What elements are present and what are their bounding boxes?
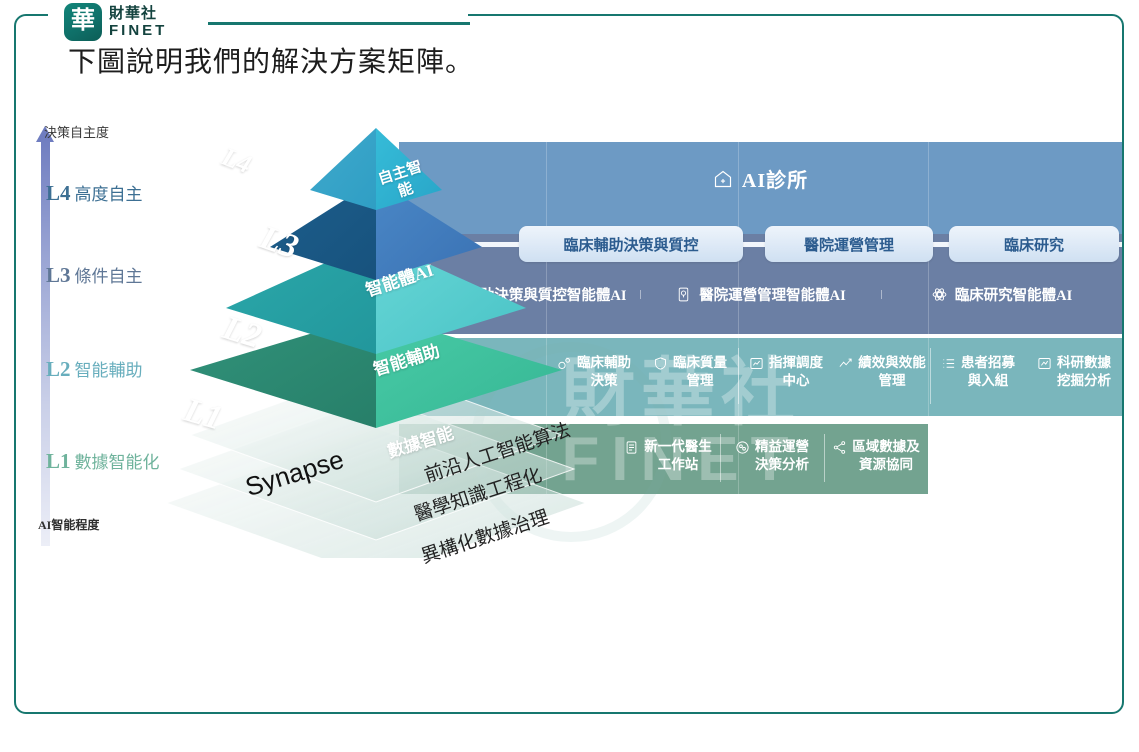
- atom-icon: [931, 286, 948, 303]
- brand-text: 財華社 FINET: [109, 6, 167, 38]
- axis-level-l4: L4高度自主: [46, 180, 143, 206]
- axis-level-l2: L2智能輔助: [46, 356, 143, 382]
- agent-label: 臨床研究智能體AI: [955, 284, 1073, 305]
- level-name: 高度自主: [75, 185, 143, 204]
- monitor-idea-icon: [675, 286, 692, 303]
- brand-name-cn: 財華社: [109, 6, 167, 21]
- ai-clinic-title: AI診所: [742, 164, 808, 193]
- level-code: L4: [46, 181, 71, 205]
- level-name: 條件自主: [75, 267, 143, 286]
- agent-label: 醫院運營管理智能體AI: [699, 284, 846, 305]
- l1-item-regional-data[interactable]: 區域數據及資源協同: [824, 428, 928, 490]
- cap-line2: 與入組: [968, 373, 1009, 388]
- axis-level-l1: L1數據智能化: [46, 448, 160, 474]
- l2-group-research: 患者招募與入組 科研數據挖掘分析: [930, 342, 1122, 412]
- hospital-home-icon: [713, 169, 733, 189]
- l2-item-clinical-quality[interactable]: 臨床質量管理: [642, 342, 738, 412]
- diagram-canvas: 財華社 FINET 決策自主度 AI智能程度 L4高度自主 L3條件自主 L2智…: [16, 110, 1122, 678]
- level-code: L1: [46, 449, 71, 473]
- axis-top-label: 決策自主度: [44, 122, 109, 141]
- document-icon: [624, 440, 639, 455]
- cap-line2: 決策: [591, 373, 618, 388]
- l2-item-patient-recruit[interactable]: 患者招募與入組: [930, 342, 1026, 412]
- cap-line2: 中心: [783, 373, 810, 388]
- l1-capability-row: 新一代醫生工作站 精益運營決策分析 區域數據及資源協同: [616, 428, 928, 490]
- cap-line1: 科研數據: [1057, 355, 1111, 370]
- axis-bottom-label: AI智能程度: [38, 516, 99, 533]
- brand-rule: [208, 22, 470, 25]
- l2-item-research-data[interactable]: 科研數據挖掘分析: [1026, 342, 1122, 412]
- cap-line2: 資源協同: [859, 457, 913, 472]
- pyramid-face-l4-left: [310, 128, 376, 210]
- gear-circle-icon: [735, 440, 750, 455]
- share-icon: [832, 440, 847, 455]
- l2-capability-row: 臨床輔助決策 臨床質量管理: [546, 342, 1122, 412]
- cap-line1: 指揮調度: [769, 355, 823, 370]
- cap-line1: 患者招募: [961, 355, 1015, 370]
- cap-line2: 挖掘分析: [1057, 373, 1111, 388]
- trend-up-icon: [838, 356, 853, 371]
- level-name: 數據智能化: [75, 453, 160, 472]
- slide-page: 華 財華社 FINET 下圖說明我們的解決方案矩陣。 財華社 FINET 決策自…: [0, 0, 1139, 752]
- cap-line2: 工作站: [658, 457, 699, 472]
- l2-item-performance[interactable]: 績效與效能管理: [834, 342, 930, 412]
- l2-group-operations: 指揮調度中心 績效與效能管理: [738, 342, 930, 412]
- pill-hospital-operations[interactable]: 醫院運營管理: [765, 226, 933, 262]
- agent-hospital-operations[interactable]: 醫院運營管理智能體AI: [640, 284, 881, 305]
- level-name: 智能輔助: [75, 361, 143, 380]
- dashboard-icon: [749, 356, 764, 371]
- finet-logo-icon: 華: [64, 3, 102, 41]
- axis-level-l3: L3條件自主: [46, 262, 143, 288]
- agent-clinical-research[interactable]: 臨床研究智能體AI: [881, 284, 1122, 305]
- shield-check-icon: [653, 356, 668, 371]
- brand-logo: 華 財華社 FINET: [58, 3, 173, 41]
- brand-name-en: FINET: [109, 23, 167, 38]
- cap-line1: 精益運營: [755, 439, 809, 454]
- page-title: 下圖說明我們的解決方案矩陣。: [68, 40, 474, 80]
- cap-line1: 績效與效能: [858, 355, 926, 370]
- cap-line1: 臨床質量: [673, 355, 727, 370]
- logo-glyph: 華: [71, 9, 95, 33]
- l1-item-lean-operations[interactable]: 精益運營決策分析: [720, 428, 824, 490]
- pill-clinical-research[interactable]: 臨床研究: [949, 226, 1119, 262]
- list-icon: [941, 356, 956, 371]
- cap-line2: 決策分析: [755, 457, 809, 472]
- cap-line1: 區域數據及: [852, 439, 920, 454]
- cap-line1: 新一代醫生: [644, 439, 712, 454]
- level-code: L2: [46, 357, 71, 381]
- cap-line2: 管理: [879, 373, 906, 388]
- maturity-pyramid: L4 L3 L2 L1 自主智能 智能體AI 智能輔助 數據智能 Synapse…: [166, 128, 586, 558]
- level-code: L3: [46, 263, 71, 287]
- cap-line2: 管理: [687, 373, 714, 388]
- l1-item-doctor-workstation[interactable]: 新一代醫生工作站: [616, 428, 720, 490]
- l2-item-command-center[interactable]: 指揮調度中心: [738, 342, 834, 412]
- chart-box-icon: [1037, 356, 1052, 371]
